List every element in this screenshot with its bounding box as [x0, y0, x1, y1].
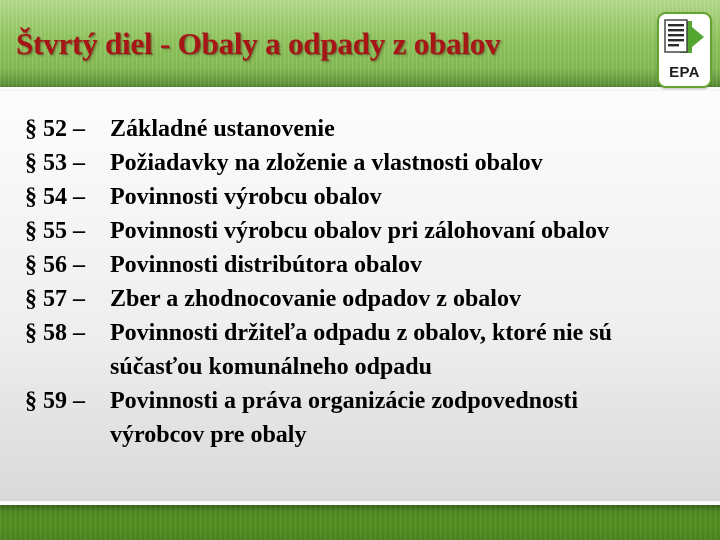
section-title: Povinnosti držiteľa odpadu z obalov, kto…	[110, 316, 612, 350]
section-number: § 58 –	[25, 316, 110, 350]
section-number: § 55 –	[25, 214, 110, 248]
list-item: § 55 – Povinnosti výrobcu obalov pri zál…	[0, 214, 720, 248]
epa-logo: EPA	[657, 12, 712, 88]
list-item: § 59 – Povinnosti a práva organizácie zo…	[0, 384, 720, 418]
section-list: § 52 – Základné ustanovenie § 53 – Požia…	[0, 112, 720, 452]
page-title: Štvrtý diel - Obaly a odpady z obalov	[16, 26, 646, 62]
section-title-continuation: súčasťou komunálneho odpadu	[110, 350, 432, 384]
epa-logo-label: EPA	[659, 64, 710, 81]
section-number: § 57 –	[25, 282, 110, 316]
footer-band	[0, 505, 720, 540]
list-item: § 56 – Povinnosti distribútora obalov	[0, 248, 720, 282]
section-title: Povinnosti výrobcu obalov	[110, 180, 382, 214]
section-title-continuation: výrobcov pre obaly	[110, 418, 306, 452]
list-item-continuation: súčasťou komunálneho odpadu	[0, 350, 720, 384]
section-number: § 59 –	[25, 384, 110, 418]
section-number: § 56 –	[25, 248, 110, 282]
section-title: Požiadavky na zloženie a vlastnosti obal…	[110, 146, 543, 180]
header-underline	[0, 87, 720, 91]
list-item: § 57 – Zber a zhodnocovanie odpadov z ob…	[0, 282, 720, 316]
section-title: Základné ustanovenie	[110, 112, 335, 146]
section-number: § 52 –	[25, 112, 110, 146]
document-arrow-icon	[662, 17, 705, 57]
section-title: Povinnosti výrobcu obalov pri zálohovaní…	[110, 214, 609, 248]
section-number: § 54 –	[25, 180, 110, 214]
section-number: § 53 –	[25, 146, 110, 180]
slide: Štvrtý diel - Obaly a odpady z obalov EP…	[0, 0, 720, 540]
list-item: § 54 – Povinnosti výrobcu obalov	[0, 180, 720, 214]
section-title: Povinnosti distribútora obalov	[110, 248, 422, 282]
list-item: § 58 – Povinnosti držiteľa odpadu z obal…	[0, 316, 720, 350]
section-title: Zber a zhodnocovanie odpadov z obalov	[110, 282, 521, 316]
list-item: § 53 – Požiadavky na zloženie a vlastnos…	[0, 146, 720, 180]
list-item-continuation: výrobcov pre obaly	[0, 418, 720, 452]
section-title: Povinnosti a práva organizácie zodpovedn…	[110, 384, 578, 418]
list-item: § 52 – Základné ustanovenie	[0, 112, 720, 146]
